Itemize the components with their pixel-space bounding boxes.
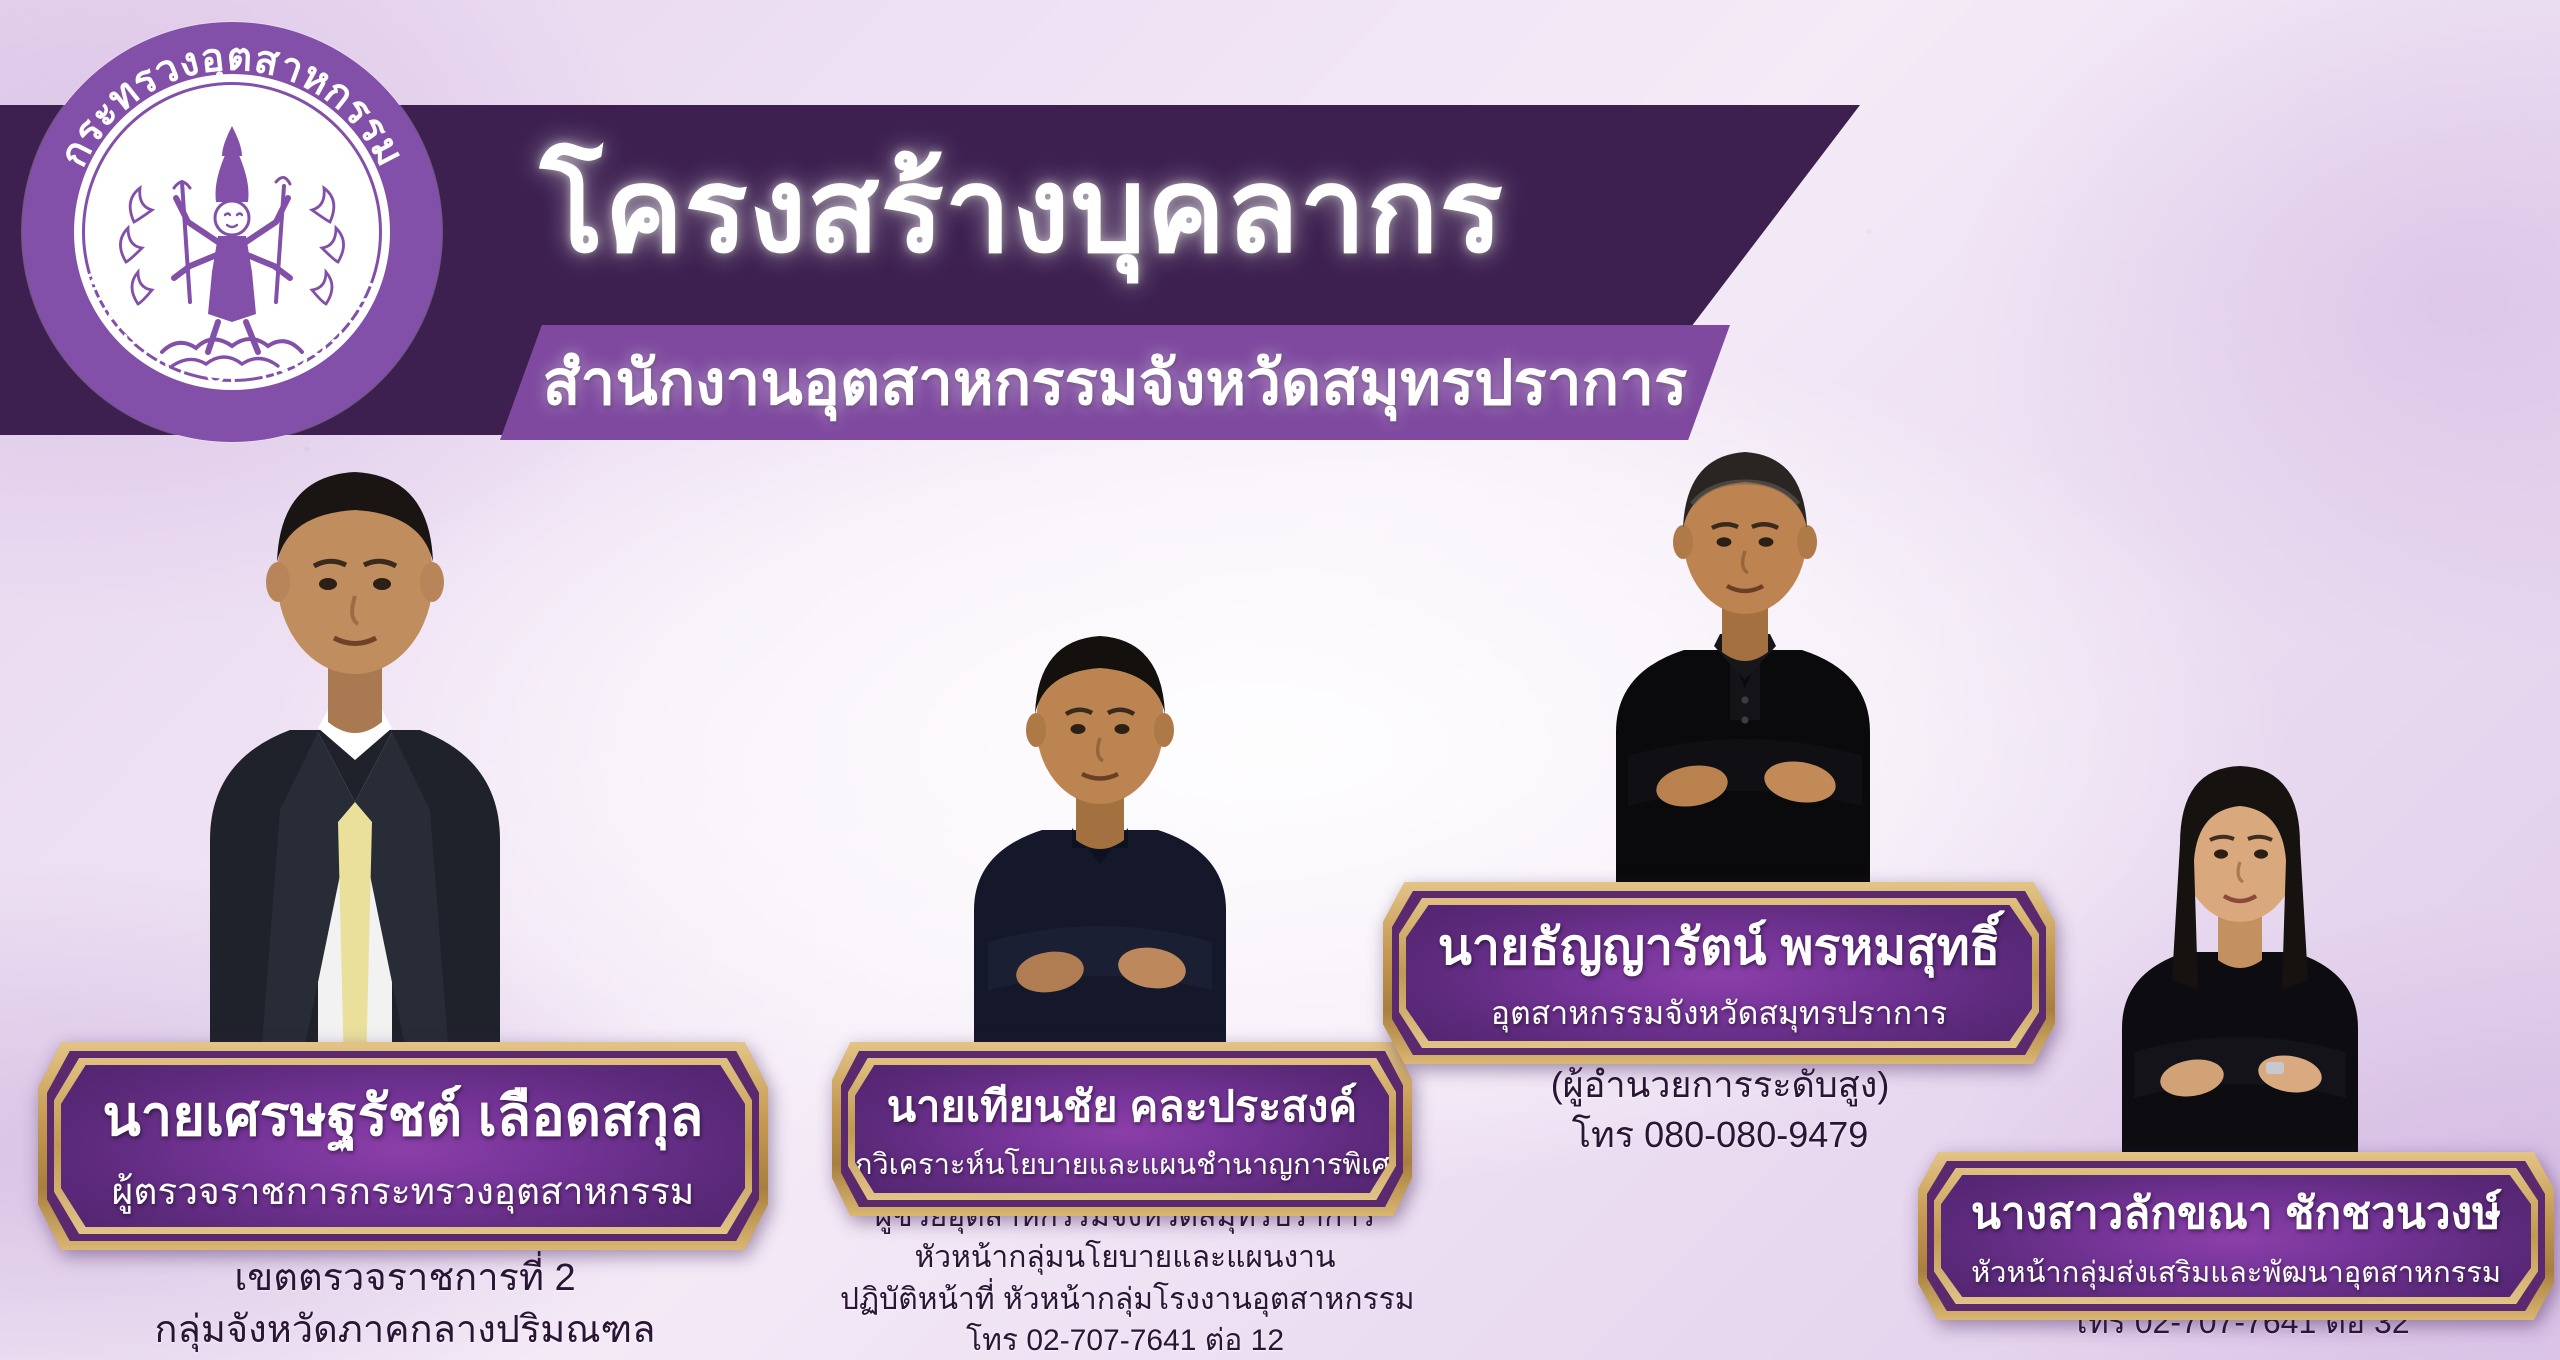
nameplate-body: นางสาวลักขณา ชักชวนวงษ์ หัวหน้ากลุ่มส่งเ… (1941, 1175, 2531, 1297)
caption-person-3: (ผู้อำนวยการระดับสูง) โทร 080-080-9479 (1400, 1060, 2040, 1159)
nameplate-inner-frame: นางสาวลักขณา ชักชวนวงษ์ หัวหน้ากลุ่มส่งเ… (1927, 1161, 2545, 1311)
nameplate-inner-frame: นายเทียนชัย คละประสงค์ นักวิเคราะห์นโยบา… (841, 1051, 1403, 1207)
ministry-of-industry-logo: กระทรวงอุตสาหกรรม MINISTRY OF INDUSTRY (22, 22, 442, 442)
nameplate-gold-frame: นายเทียนชัย คละประสงค์ นักวิเคราะห์นโยบา… (832, 1042, 1412, 1216)
person-name: นายเศรษฐรัชต์ เลือดสกุล (103, 1071, 704, 1160)
photo-person-3 (1580, 420, 1910, 920)
person-name: นายเทียนชัย คละประสงค์ (887, 1072, 1357, 1140)
nameplate-gold-frame: นางสาวลักขณา ชักชวนวงษ์ หัวหน้ากลุ่มส่งเ… (1918, 1152, 2554, 1320)
page-title: โครงสร้างบุคลากร (540, 115, 1790, 303)
nameplate-gold-inline: นายเทียนชัย คละประสงค์ นักวิเคราะห์นโยบา… (848, 1058, 1396, 1200)
caption-person-1: เขตตรวจราชการที่ 2 กลุ่มจังหวัดภาคกลางปร… (60, 1252, 750, 1357)
photo-person-1 (150, 410, 560, 1070)
caption-person-2: ผู้ช่วยอุตสาหกรรมจังหวัดสมุทรปราการ หัวห… (840, 1196, 1410, 1360)
person-role: หัวหน้ากลุ่มส่งเสริมและพัฒนาอุตสาหกรรม (1971, 1249, 2501, 1295)
nameplate-person-1: นายเศรษฐรัชต์ เลือดสกุล ผู้ตรวจราชการกระ… (38, 1042, 768, 1250)
caption-line: (ผู้อำนวยการระดับสูง) (1400, 1060, 2040, 1110)
nameplate-gold-inline: นายธัญญารัตน์ พรหมสุทธิ์ อุตสาหกรรมจังหว… (1399, 898, 2039, 1048)
caption-line-phone: โทร 02-707-7641 ต่อ 12 (840, 1320, 1410, 1360)
logo-artwork: กระทรวงอุตสาหกรรม MINISTRY OF INDUSTRY (22, 22, 442, 442)
org-structure-poster: โครงสร้างบุคลากร สำนักงานอุตสาหกรรมจังหว… (0, 0, 2560, 1360)
nameplate-gold-frame: นายธัญญารัตน์ พรหมสุทธิ์ อุตสาหกรรมจังหว… (1383, 882, 2055, 1064)
person-role: อุตสาหกรรมจังหวัดสมุทรปราการ (1491, 988, 1948, 1039)
nameplate-body: นายเทียนชัย คละประสงค์ นักวิเคราะห์นโยบา… (855, 1065, 1389, 1193)
person-role: ผู้ตรวจราชการกระทรวงอุตสาหกรรม (112, 1162, 695, 1221)
person-role: นักวิเคราะห์นโยบายและแผนชำนาญการพิเศษ (835, 1141, 1409, 1187)
person-name: นายธัญญารัตน์ พรหมสุทธิ์ (1438, 908, 2000, 987)
nameplate-gold-inline: นายเศรษฐรัชต์ เลือดสกุล ผู้ตรวจราชการกระ… (54, 1058, 752, 1234)
person-name: นางสาวลักขณา ชักชวนวงษ์ (1971, 1178, 2501, 1248)
caption-line: เขตตรวจราชการที่ 2 (60, 1252, 750, 1304)
nameplate-person-3: นายธัญญารัตน์ พรหมสุทธิ์ อุตสาหกรรมจังหว… (1383, 882, 2055, 1064)
photo-person-4 (2090, 740, 2390, 1180)
nameplate-gold-inline: นางสาวลักขณา ชักชวนวงษ์ หัวหน้ากลุ่มส่งเ… (1934, 1168, 2538, 1304)
nameplate-person-2: นายเทียนชัย คละประสงค์ นักวิเคราะห์นโยบา… (832, 1042, 1412, 1216)
nameplate-gold-frame: นายเศรษฐรัชต์ เลือดสกุล ผู้ตรวจราชการกระ… (38, 1042, 768, 1250)
nameplate-body: นายธัญญารัตน์ พรหมสุทธิ์ อุตสาหกรรมจังหว… (1406, 905, 2032, 1041)
caption-line: หัวหน้ากลุ่มนโยบายและแผนงาน (840, 1237, 1410, 1278)
caption-line: ปฏิบัติหน้าที่ หัวหน้ากลุ่มโรงงานอุตสาหก… (840, 1279, 1410, 1320)
nameplate-inner-frame: นายเศรษฐรัชต์ เลือดสกุล ผู้ตรวจราชการกระ… (47, 1051, 759, 1241)
nameplate-person-4: นางสาวลักขณา ชักชวนวงษ์ หัวหน้ากลุ่มส่งเ… (1918, 1152, 2554, 1320)
page-subtitle: สำนักงานอุตสาหกรรมจังหวัดสมุทรปราการ (500, 325, 1730, 440)
caption-line: กลุ่มจังหวัดภาคกลางปริมณฑล (60, 1304, 750, 1356)
nameplate-inner-frame: นายธัญญารัตน์ พรหมสุทธิ์ อุตสาหกรรมจังหว… (1392, 891, 2046, 1055)
nameplate-body: นายเศรษฐรัชต์ เลือดสกุล ผู้ตรวจราชการกระ… (61, 1065, 745, 1227)
photo-person-2 (930, 590, 1270, 1070)
